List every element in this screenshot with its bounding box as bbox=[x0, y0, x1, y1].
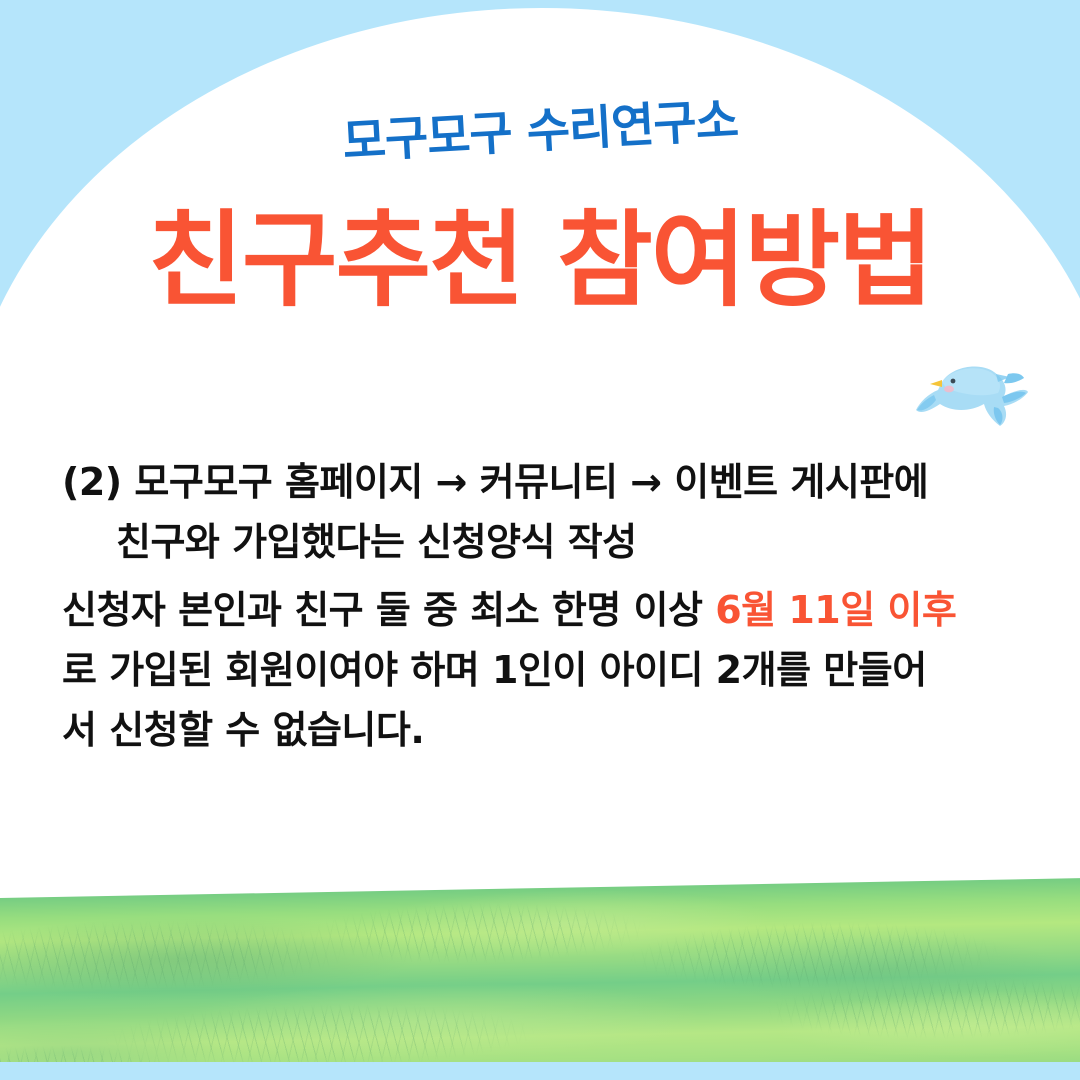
bottom-sky-strip bbox=[0, 1062, 1080, 1080]
body-copy: (2) 모구모구 홈페이지 → 커뮤니티 → 이벤트 게시판에 친구와 가입했다… bbox=[62, 452, 1022, 760]
bird-icon bbox=[912, 356, 1030, 428]
body-line-3: 신청자 본인과 친구 둘 중 최소 한명 이상 6월 11일 이후 bbox=[62, 580, 1022, 640]
poster-canvas: 모구모구 수리연구소 친구추천 참여방법 (2) 모구모구 홈페이지 → 커뮤니… bbox=[0, 0, 1080, 1080]
grass-field bbox=[0, 876, 1080, 1066]
body-line-1: (2) 모구모구 홈페이지 → 커뮤니티 → 이벤트 게시판에 bbox=[62, 452, 1022, 512]
body-line-2: 친구와 가입했다는 신청양식 작성 bbox=[62, 512, 1022, 572]
page-title: 친구추천 참여방법 bbox=[0, 208, 1080, 312]
date-highlight: 6월 11일 이후 bbox=[715, 588, 956, 632]
grass-blade-texture bbox=[0, 878, 1080, 1066]
body-line-3-text: 신청자 본인과 친구 둘 중 최소 한명 이상 bbox=[62, 588, 715, 632]
body-line-4: 로 가입된 회원이여야 하며 1인이 아이디 2개를 만들어 bbox=[62, 640, 1022, 700]
grass-base bbox=[0, 878, 1080, 1066]
body-line-5: 서 신청할 수 없습니다. bbox=[62, 700, 1022, 760]
